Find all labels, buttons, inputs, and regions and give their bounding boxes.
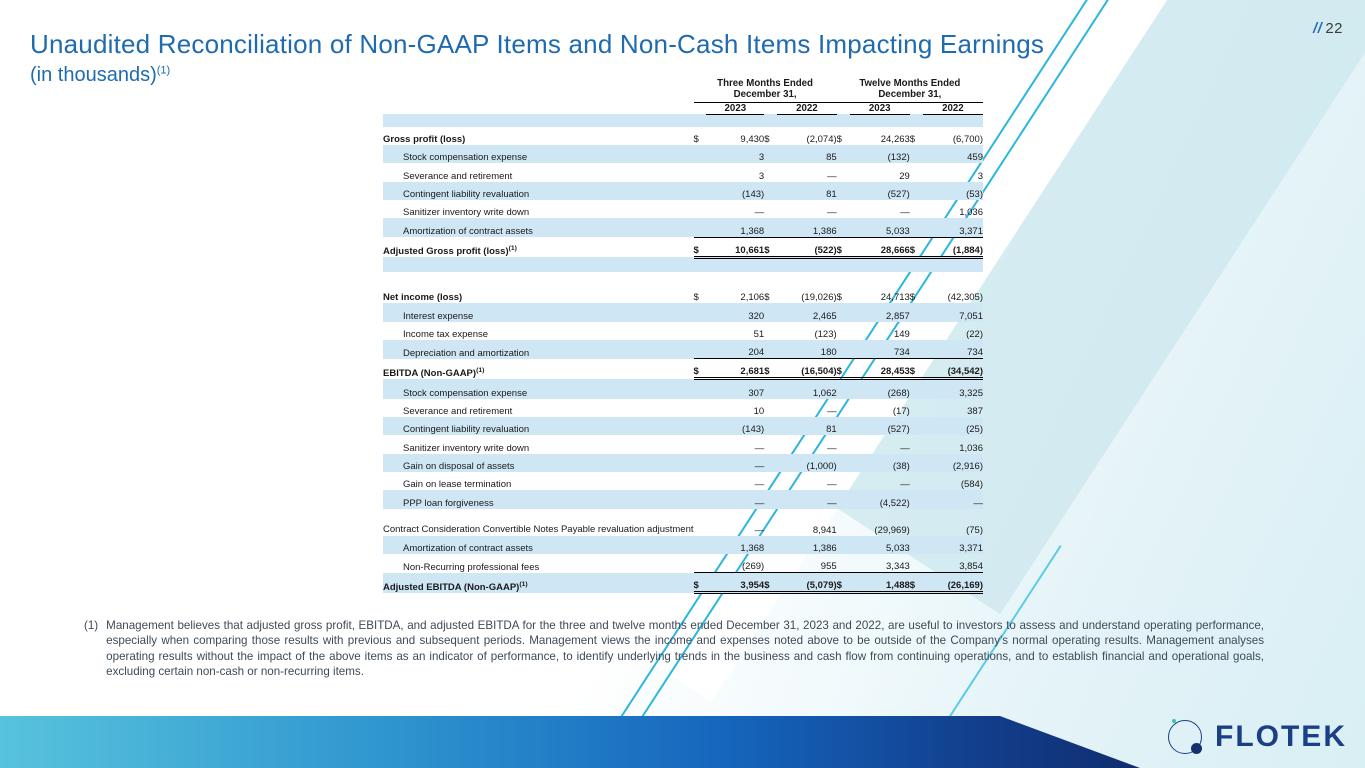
currency-symbol-cell (910, 218, 923, 237)
currency-symbol-cell: $ (910, 237, 923, 257)
currency-symbol-cell (694, 509, 707, 536)
table-row: Net income (loss)$2,106$(19,026)$24,713$… (383, 285, 983, 303)
row-value: 149 (850, 322, 910, 340)
row-value: — (706, 200, 764, 218)
currency-symbol-cell (910, 490, 923, 508)
row-value: 734 (850, 340, 910, 359)
row-value: 10,661 (706, 237, 764, 257)
currency-symbol-cell (910, 340, 923, 359)
row-value: 307 (706, 379, 764, 399)
row-value: (29,969) (850, 509, 910, 536)
page-title: Unaudited Reconciliation of Non-GAAP Ite… (30, 31, 1070, 58)
currency-symbol-cell (694, 379, 707, 399)
currency-symbol-cell (837, 163, 850, 181)
currency-symbol-cell (910, 322, 923, 340)
table-header-year-row: 2023 2022 2023 2022 (383, 103, 983, 115)
row-value: 7,051 (923, 303, 983, 321)
currency-symbol-cell (694, 303, 707, 321)
currency-symbol-cell (694, 200, 707, 218)
table-row: Gross profit (loss)$9,430$(2,074)$24,263… (383, 127, 983, 145)
currency-symbol-cell (764, 472, 777, 490)
row-value: — (850, 200, 910, 218)
row-label-footnote-mark: (1) (519, 581, 527, 588)
band-spacer-cell (383, 114, 983, 127)
table-row: Stock compensation expense3071,062(268)3… (383, 379, 983, 399)
row-value: 29 (850, 163, 910, 181)
currency-symbol-cell: $ (694, 573, 707, 593)
header-twelve-months-line1: Twelve Months Ended (859, 78, 960, 89)
row-label: Stock compensation expense (383, 379, 694, 399)
currency-symbol-cell (694, 218, 707, 237)
currency-symbol-cell: $ (837, 359, 850, 379)
row-value: 459 (923, 145, 983, 163)
row-label: Sanitizer inventory write down (383, 435, 694, 453)
row-value: 1,062 (777, 379, 837, 399)
header-year-y2022: 2022 (923, 103, 983, 115)
currency-symbol-cell: $ (764, 127, 777, 145)
table-row: Adjusted EBITDA (Non-GAAP)(1)$3,954$(5,0… (383, 573, 983, 593)
table-row: Depreciation and amortization20418073473… (383, 340, 983, 359)
currency-symbol-cell (764, 454, 777, 472)
currency-symbol-cell: $ (694, 285, 707, 303)
currency-symbol-cell (764, 379, 777, 399)
table-row: Severance and retirement3—293 (383, 163, 983, 181)
row-value: (522) (777, 237, 837, 257)
row-value: (16,504) (777, 359, 837, 379)
row-label: Amortization of contract assets (383, 218, 694, 237)
row-label: Adjusted EBITDA (Non-GAAP)(1) (383, 573, 694, 593)
row-value: 2,106 (706, 285, 764, 303)
header-group-three-months: Three Months Ended December 31, (694, 78, 837, 103)
currency-symbol-cell (764, 163, 777, 181)
row-value: 387 (923, 399, 983, 417)
row-label: Gain on disposal of assets (383, 454, 694, 472)
currency-symbol-cell (764, 340, 777, 359)
currency-symbol-cell: $ (764, 285, 777, 303)
row-value: — (777, 472, 837, 490)
currency-symbol-cell (694, 435, 707, 453)
financial-table-container: Three Months Ended December 31, Twelve M… (383, 78, 983, 594)
currency-symbol-cell (764, 417, 777, 435)
row-value: 3,371 (923, 536, 983, 554)
row-value: — (777, 399, 837, 417)
row-label: Amortization of contract assets (383, 536, 694, 554)
table-row: Gain on disposal of assets—(1,000)(38)(2… (383, 454, 983, 472)
row-value: — (777, 490, 837, 508)
header-three-months-line2: December 31, (734, 89, 797, 100)
currency-symbol-cell (910, 399, 923, 417)
currency-symbol-cell (764, 303, 777, 321)
row-value: (6,700) (923, 127, 983, 145)
currency-symbol-cell (764, 554, 777, 573)
row-value: 204 (706, 340, 764, 359)
row-value: (53) (923, 182, 983, 200)
currency-symbol-cell (837, 509, 850, 536)
row-value: (132) (850, 145, 910, 163)
row-value: 180 (777, 340, 837, 359)
header-group-three-months-text: Three Months Ended December 31, (694, 78, 837, 103)
header-group-twelve-months: Twelve Months Ended December 31, (837, 78, 983, 103)
header-year-spacer-4 (910, 103, 923, 115)
currency-symbol-cell (837, 303, 850, 321)
currency-symbol-cell (837, 399, 850, 417)
row-value: 1,386 (777, 536, 837, 554)
currency-symbol-cell (837, 322, 850, 340)
currency-symbol-cell (764, 218, 777, 237)
row-value: — (777, 435, 837, 453)
header-year-y2023: 2023 (850, 103, 910, 115)
row-label: Gross profit (loss) (383, 127, 694, 145)
currency-symbol-cell (910, 435, 923, 453)
row-value: 9,430 (706, 127, 764, 145)
currency-symbol-cell: $ (910, 127, 923, 145)
table-row: Amortization of contract assets1,3681,38… (383, 536, 983, 554)
row-value: (19,026) (777, 285, 837, 303)
header-year-spacer-2 (764, 103, 777, 115)
row-value: 2,681 (706, 359, 764, 379)
row-label-footnote-mark: (1) (509, 245, 517, 252)
flotek-logo-mark-icon (1165, 717, 1205, 757)
row-value: (34,542) (923, 359, 983, 379)
row-value: — (923, 490, 983, 508)
row-label: Interest expense (383, 303, 694, 321)
currency-symbol-cell (910, 200, 923, 218)
currency-symbol-cell (910, 145, 923, 163)
table-row: Contract Consideration Convertible Notes… (383, 509, 983, 536)
row-value: 85 (777, 145, 837, 163)
row-value: (1,884) (923, 237, 983, 257)
currency-symbol-cell (764, 145, 777, 163)
currency-symbol-cell (694, 536, 707, 554)
table-row: Sanitizer inventory write down———1,036 (383, 200, 983, 218)
row-value: (25) (923, 417, 983, 435)
row-value: 24,713 (850, 285, 910, 303)
table-header-band-spacer (383, 114, 983, 127)
footnote-marker: (1) (84, 618, 98, 680)
header-group-twelve-months-text: Twelve Months Ended December 31, (837, 78, 983, 103)
row-value: — (706, 509, 764, 536)
currency-symbol-cell (837, 536, 850, 554)
currency-symbol-cell (694, 472, 707, 490)
row-value: 28,453 (850, 359, 910, 379)
row-value: (4,522) (850, 490, 910, 508)
row-value: — (706, 454, 764, 472)
table-gap-row (383, 257, 983, 272)
header-three-months-line1: Three Months Ended (717, 78, 813, 89)
row-value: — (850, 472, 910, 490)
row-label: PPP loan forgiveness (383, 490, 694, 508)
flotek-logo: FLOTEK (1165, 714, 1347, 760)
currency-symbol-cell (837, 340, 850, 359)
header-year-q2022: 2022 (777, 103, 837, 115)
row-value: (527) (850, 417, 910, 435)
header-year-spacer-3 (837, 103, 850, 115)
currency-symbol-cell (764, 322, 777, 340)
table-row: Contingent liability revaluation(143)81(… (383, 417, 983, 435)
row-value: — (850, 435, 910, 453)
currency-symbol-cell (910, 554, 923, 573)
row-value: 1,036 (923, 435, 983, 453)
currency-symbol-cell (910, 303, 923, 321)
currency-symbol-cell (764, 182, 777, 200)
currency-symbol-cell (910, 454, 923, 472)
row-value: — (706, 472, 764, 490)
row-value: 8,941 (777, 509, 837, 536)
header-twelve-months-line2: December 31, (878, 89, 941, 100)
row-value: 2,857 (850, 303, 910, 321)
currency-symbol-cell: $ (910, 359, 923, 379)
slide-canvas: //22 Unaudited Reconciliation of Non-GAA… (0, 0, 1365, 768)
currency-symbol-cell: $ (837, 285, 850, 303)
currency-symbol-cell (694, 340, 707, 359)
row-label: Adjusted Gross profit (loss)(1) (383, 237, 694, 257)
row-value: 3,325 (923, 379, 983, 399)
table-body: Gross profit (loss)$9,430$(2,074)$24,263… (383, 127, 983, 593)
currency-symbol-cell: $ (764, 237, 777, 257)
row-label: Sanitizer inventory write down (383, 200, 694, 218)
currency-symbol-cell (910, 379, 923, 399)
row-value: 3 (706, 145, 764, 163)
row-value: (75) (923, 509, 983, 536)
row-label: Income tax expense (383, 322, 694, 340)
currency-symbol-cell (837, 145, 850, 163)
table-gap-cell (383, 257, 983, 272)
currency-symbol-cell (764, 435, 777, 453)
row-value: 1,036 (923, 200, 983, 218)
currency-symbol-cell: $ (910, 285, 923, 303)
currency-symbol-cell (837, 417, 850, 435)
currency-symbol-cell: $ (764, 359, 777, 379)
row-value: — (777, 200, 837, 218)
header-year-q2023: 2023 (706, 103, 764, 115)
table-row: Interest expense3202,4652,8577,051 (383, 303, 983, 321)
row-label-footnote-mark: (1) (476, 367, 484, 374)
currency-symbol-cell (837, 200, 850, 218)
currency-symbol-cell (837, 490, 850, 508)
currency-symbol-cell (837, 218, 850, 237)
page-number: //22 (1313, 20, 1343, 37)
currency-symbol-cell: $ (764, 573, 777, 593)
row-value: (22) (923, 322, 983, 340)
row-value: 1,386 (777, 218, 837, 237)
row-value: 81 (777, 417, 837, 435)
row-value: — (706, 435, 764, 453)
row-value: 5,033 (850, 536, 910, 554)
table-row: Adjusted Gross profit (loss)(1)$10,661$(… (383, 237, 983, 257)
row-value: 3,954 (706, 573, 764, 593)
currency-symbol-cell: $ (694, 359, 707, 379)
row-value: (42,305) (923, 285, 983, 303)
currency-symbol-cell (910, 509, 923, 536)
row-value: (527) (850, 182, 910, 200)
page-number-value: 22 (1325, 20, 1343, 37)
row-value: 320 (706, 303, 764, 321)
row-value: 3 (706, 163, 764, 181)
row-label: Contingent liability revaluation (383, 417, 694, 435)
row-value: 28,666 (850, 237, 910, 257)
currency-symbol-cell (837, 182, 850, 200)
reconciliation-table: Three Months Ended December 31, Twelve M… (383, 78, 983, 594)
row-value: 3,343 (850, 554, 910, 573)
currency-symbol-cell: $ (837, 573, 850, 593)
page-subtitle-text: (in thousands) (30, 64, 157, 86)
currency-symbol-cell (694, 554, 707, 573)
currency-symbol-cell (910, 472, 923, 490)
page-number-prefix: // (1313, 20, 1322, 37)
currency-symbol-cell (694, 417, 707, 435)
row-label: Severance and retirement (383, 163, 694, 181)
table-row: Sanitizer inventory write down———1,036 (383, 435, 983, 453)
currency-symbol-cell (764, 536, 777, 554)
row-value: 3 (923, 163, 983, 181)
currency-symbol-cell (694, 145, 707, 163)
table-row: Income tax expense51(123)149(22) (383, 322, 983, 340)
currency-symbol-cell (837, 435, 850, 453)
footnote-text: Management believes that adjusted gross … (106, 618, 1264, 680)
table-row: Contingent liability revaluation(143)81(… (383, 182, 983, 200)
currency-symbol-cell (910, 417, 923, 435)
currency-symbol-cell: $ (837, 237, 850, 257)
logo-navy-dot-icon (1191, 743, 1202, 754)
currency-symbol-cell (694, 322, 707, 340)
row-value: (143) (706, 182, 764, 200)
currency-symbol-cell (694, 163, 707, 181)
row-label: EBITDA (Non-GAAP)(1) (383, 359, 694, 379)
row-label: Stock compensation expense (383, 145, 694, 163)
table-row: Gain on lease termination———(584) (383, 472, 983, 490)
row-value: (143) (706, 417, 764, 435)
currency-symbol-cell (694, 182, 707, 200)
row-value: (1,000) (777, 454, 837, 472)
row-value: (268) (850, 379, 910, 399)
row-value: 5,033 (850, 218, 910, 237)
currency-symbol-cell (910, 163, 923, 181)
row-value: 1,488 (850, 573, 910, 593)
currency-symbol-cell (764, 200, 777, 218)
row-label: Severance and retirement (383, 399, 694, 417)
flotek-wordmark: FLOTEK (1215, 720, 1347, 754)
row-value: (269) (706, 554, 764, 573)
currency-symbol-cell (837, 454, 850, 472)
bottom-gradient-bar (0, 716, 1140, 768)
currency-symbol-cell: $ (837, 127, 850, 145)
footnote: (1) Management believes that adjusted gr… (84, 618, 1264, 680)
row-value: 10 (706, 399, 764, 417)
header-spacer-label (383, 78, 694, 103)
currency-symbol-cell: $ (910, 573, 923, 593)
currency-symbol-cell (764, 509, 777, 536)
currency-symbol-cell: $ (694, 237, 707, 257)
currency-symbol-cell (694, 490, 707, 508)
currency-symbol-cell: $ (694, 127, 707, 145)
row-value: 81 (777, 182, 837, 200)
table-header: Three Months Ended December 31, Twelve M… (383, 78, 983, 127)
row-value: (584) (923, 472, 983, 490)
table-row: Amortization of contract assets1,3681,38… (383, 218, 983, 237)
row-value: (5,079) (777, 573, 837, 593)
row-label: Contingent liability revaluation (383, 182, 694, 200)
table-header-group-row: Three Months Ended December 31, Twelve M… (383, 78, 983, 103)
row-label: Net income (loss) (383, 285, 694, 303)
row-value: 1,368 (706, 218, 764, 237)
table-row: EBITDA (Non-GAAP)(1)$2,681$(16,504)$28,4… (383, 359, 983, 379)
row-value: 734 (923, 340, 983, 359)
currency-symbol-cell (764, 399, 777, 417)
row-label: Depreciation and amortization (383, 340, 694, 359)
row-value: 2,465 (777, 303, 837, 321)
row-value: 955 (777, 554, 837, 573)
currency-symbol-cell (764, 490, 777, 508)
row-value: 1,368 (706, 536, 764, 554)
table-row: Non-Recurring professional fees(269)9553… (383, 554, 983, 573)
row-value: (38) (850, 454, 910, 472)
header-year-spacer-1 (694, 103, 707, 115)
table-gap-cell (383, 272, 983, 285)
row-value: (17) (850, 399, 910, 417)
row-value: (2,074) (777, 127, 837, 145)
row-value: — (777, 163, 837, 181)
table-row: Stock compensation expense385(132)459 (383, 145, 983, 163)
page-subtitle-footnote-mark: (1) (157, 64, 170, 76)
row-value: (2,916) (923, 454, 983, 472)
table-row: PPP loan forgiveness——(4,522)— (383, 490, 983, 508)
row-value: 3,371 (923, 218, 983, 237)
row-value: — (706, 490, 764, 508)
table-gap-row (383, 272, 983, 285)
currency-symbol-cell (694, 454, 707, 472)
row-label: Contract Consideration Convertible Notes… (383, 509, 694, 536)
row-label: Non-Recurring professional fees (383, 554, 694, 573)
currency-symbol-cell (910, 536, 923, 554)
header-spacer-label-2 (383, 103, 694, 115)
row-value: 24,263 (850, 127, 910, 145)
currency-symbol-cell (837, 554, 850, 573)
currency-symbol-cell (837, 472, 850, 490)
row-value: (26,169) (923, 573, 983, 593)
row-label: Gain on lease termination (383, 472, 694, 490)
currency-symbol-cell (910, 182, 923, 200)
currency-symbol-cell (837, 379, 850, 399)
table-row: Severance and retirement10—(17)387 (383, 399, 983, 417)
row-value: 51 (706, 322, 764, 340)
row-value: (123) (777, 322, 837, 340)
currency-symbol-cell (694, 399, 707, 417)
logo-green-dot-icon (1172, 719, 1176, 723)
row-value: 3,854 (923, 554, 983, 573)
